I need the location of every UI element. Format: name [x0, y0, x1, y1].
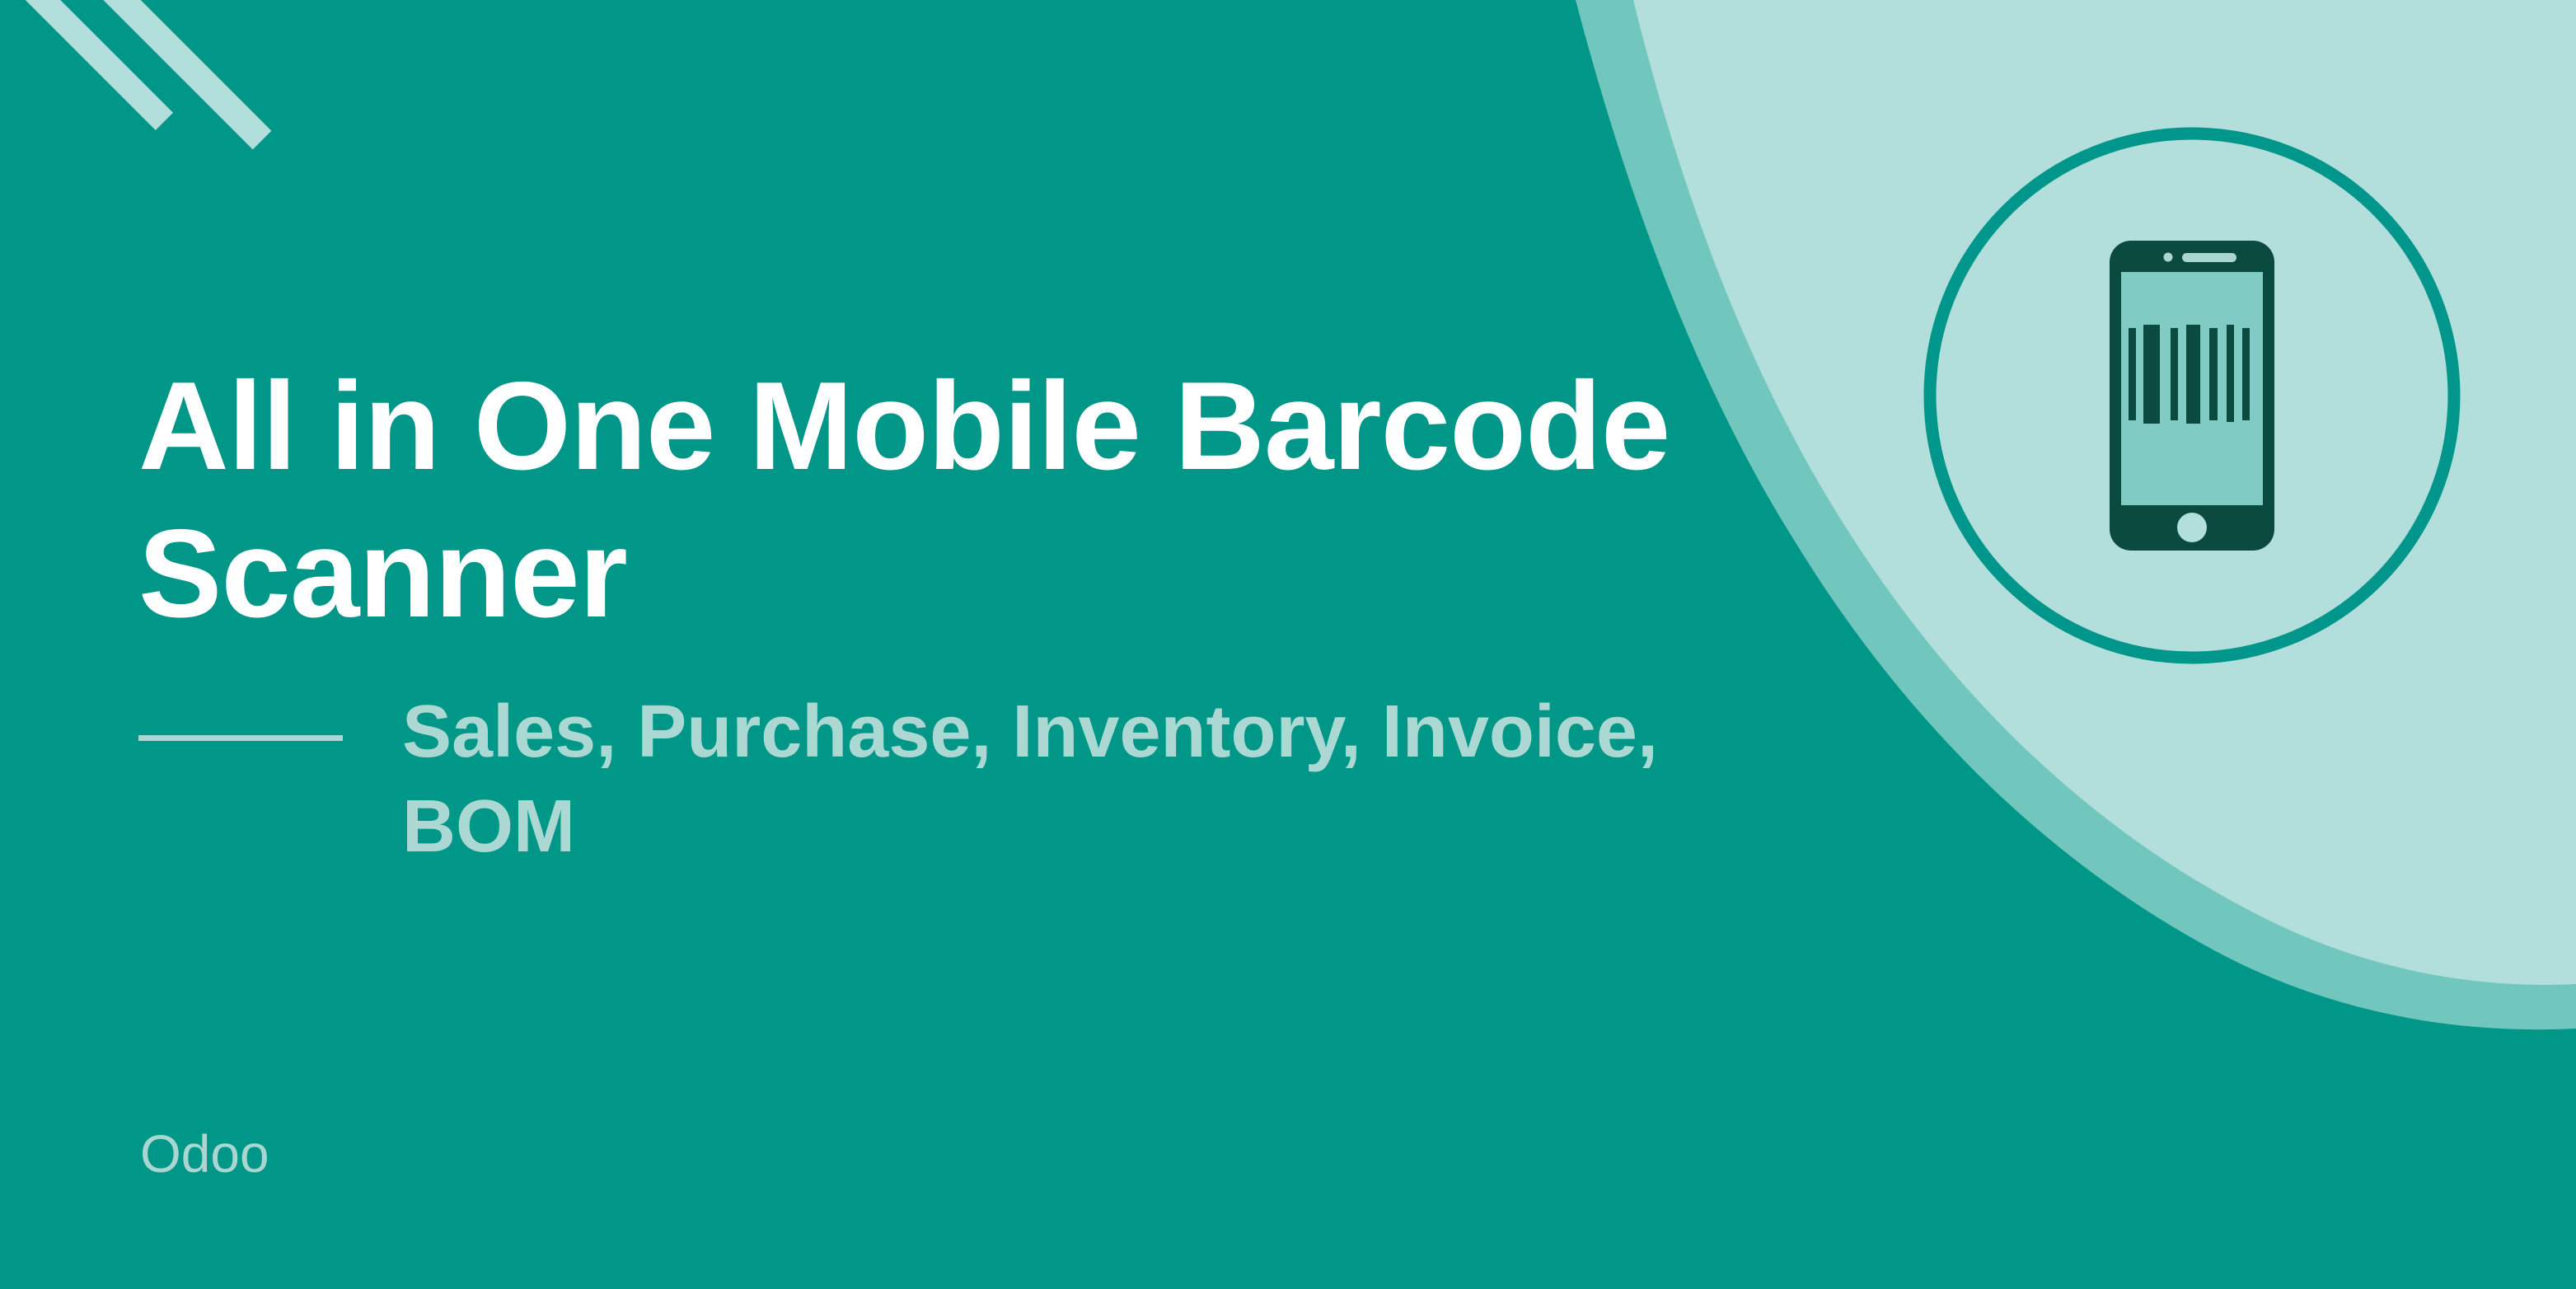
subtitle-row: Sales, Purchase, Inventory, Invoice, BOM	[138, 685, 1754, 874]
subtitle-divider-rule	[138, 735, 343, 741]
barcode-bar	[2143, 325, 2160, 424]
presentation-slide: All in One Mobile Barcode Scanner Sales,…	[0, 0, 2576, 1289]
brand-label: Odoo	[140, 1127, 269, 1180]
barcode-graphic	[2129, 325, 2250, 424]
phone-home-button	[2177, 513, 2207, 542]
phone-speaker	[2182, 253, 2236, 262]
barcode-bar	[2227, 325, 2234, 422]
slide-subtitle: Sales, Purchase, Inventory, Invoice, BOM	[402, 685, 1754, 874]
phone-camera-dot	[2164, 253, 2173, 262]
barcode-bar	[2129, 328, 2136, 420]
barcode-bar	[2186, 325, 2200, 424]
slide-text-block: All in One Mobile Barcode Scanner Sales,…	[138, 353, 1754, 874]
barcode-bar	[2209, 328, 2218, 420]
slide-headline: All in One Mobile Barcode Scanner	[138, 353, 1721, 649]
barcode-bar	[2171, 328, 2178, 420]
barcode-bar	[2242, 328, 2250, 420]
